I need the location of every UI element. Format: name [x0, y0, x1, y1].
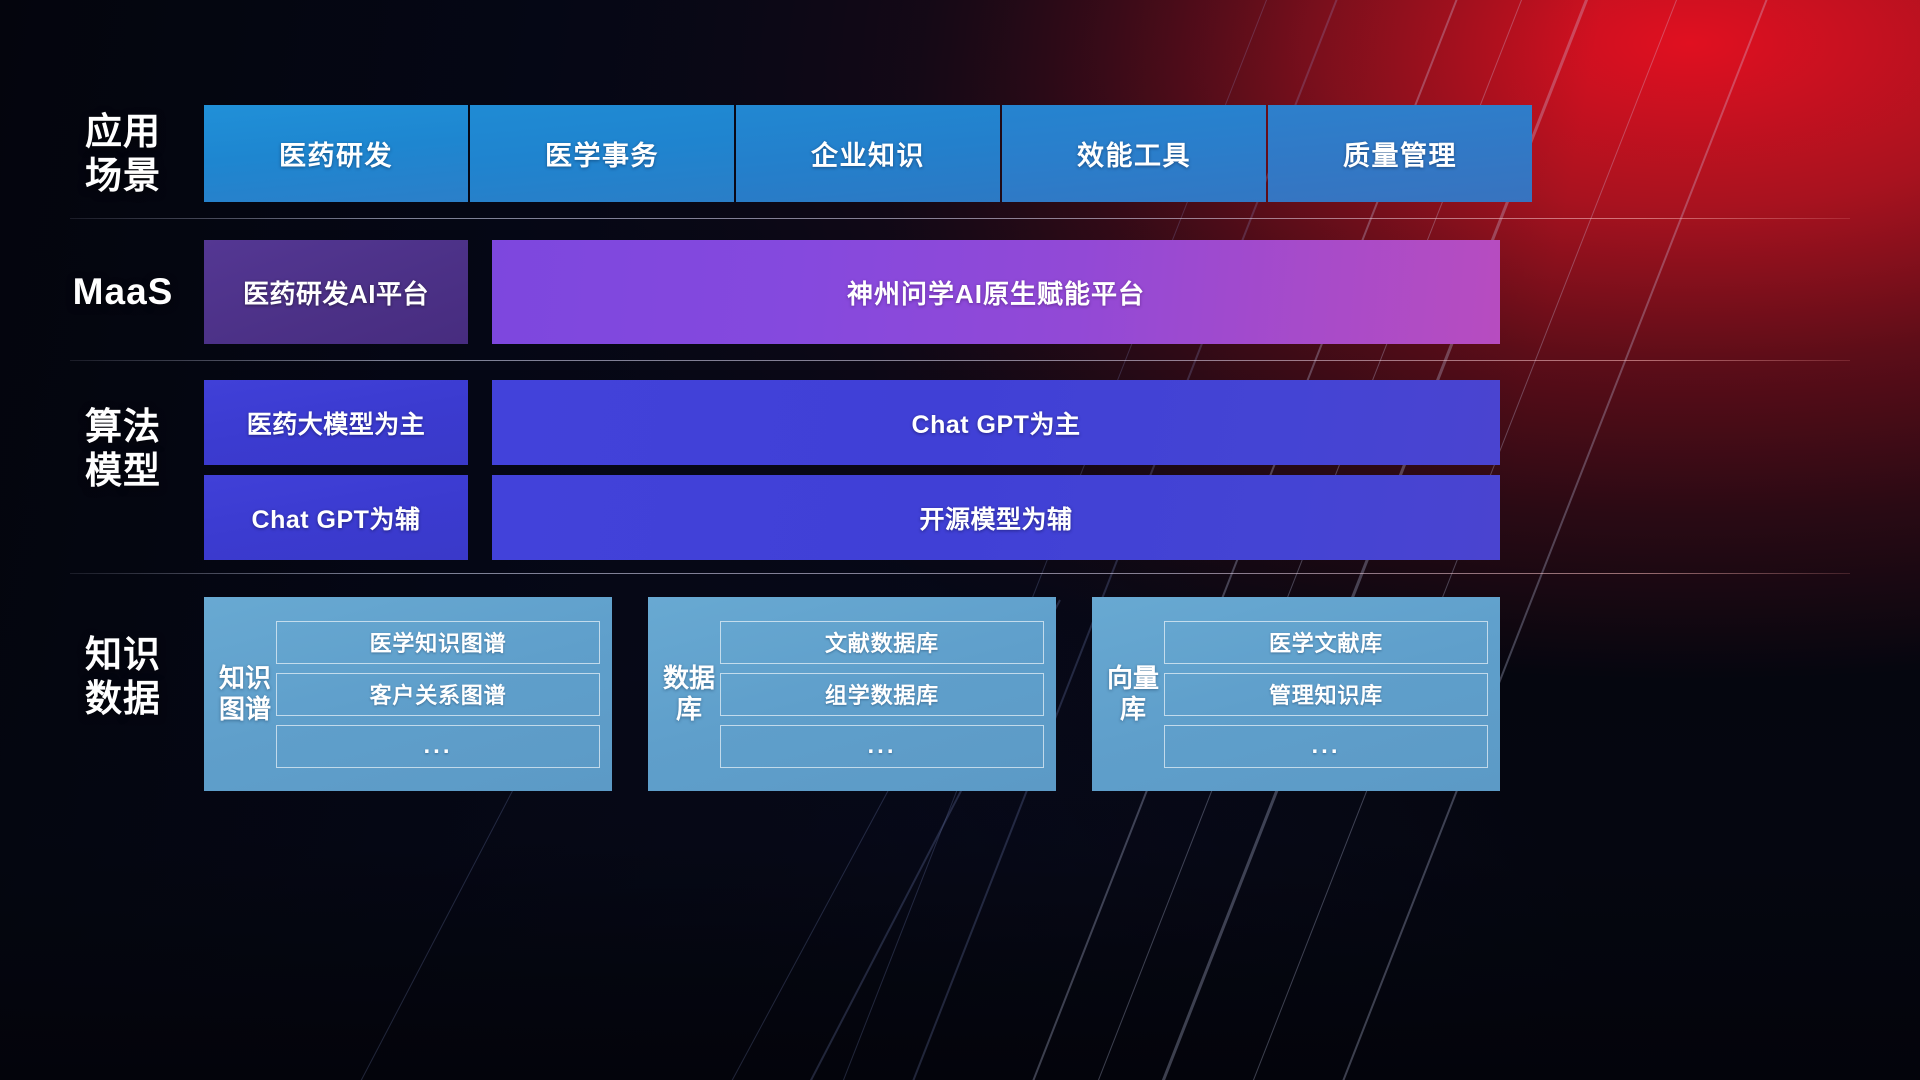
- tier-divider-2: [70, 360, 1850, 361]
- app-box-label: 效能工具: [1077, 134, 1191, 173]
- algorithm-box-label: 医药大模型为主: [247, 405, 426, 441]
- algorithm-box-label: Chat GPT为主: [912, 405, 1081, 441]
- algorithm-box-chatgpt-primary[interactable]: Chat GPT为主: [492, 380, 1500, 465]
- tier-label-knowledge-data: 知识 数据: [48, 633, 198, 721]
- algorithm-box-medicine-llm-primary[interactable]: 医药大模型为主: [204, 380, 468, 465]
- knowledge-item-more[interactable]: ...: [276, 725, 600, 768]
- app-box-label: 医药研发: [279, 134, 393, 173]
- app-box-medical-affairs[interactable]: 医学事务: [470, 105, 734, 202]
- tier-divider-3: [70, 573, 1850, 574]
- knowledge-card-items: 医学文献库 管理知识库 ...: [1164, 607, 1488, 781]
- knowledge-item[interactable]: 管理知识库: [1164, 673, 1488, 716]
- knowledge-card-title: 知识图谱: [214, 663, 276, 725]
- algorithm-box-chatgpt-secondary[interactable]: Chat GPT为辅: [204, 475, 468, 560]
- tier-label-algorithm-models: 算法 模型: [48, 405, 198, 493]
- knowledge-item[interactable]: 医学文献库: [1164, 621, 1488, 664]
- knowledge-card-title: 数据库: [658, 663, 720, 725]
- knowledge-item[interactable]: 医学知识图谱: [276, 621, 600, 664]
- tier-divider-1: [70, 218, 1850, 219]
- knowledge-card-title: 向量库: [1102, 663, 1164, 725]
- app-box-label: 企业知识: [811, 134, 925, 173]
- app-box-medicine-rd[interactable]: 医药研发: [204, 105, 468, 202]
- app-box-quality-management[interactable]: 质量管理: [1268, 105, 1532, 202]
- tier-label-maas: MaaS: [48, 270, 198, 314]
- algorithm-box-label: Chat GPT为辅: [252, 500, 421, 536]
- app-box-efficiency-tools[interactable]: 效能工具: [1002, 105, 1266, 202]
- maas-box-label: 神州问学AI原生赋能平台: [847, 274, 1145, 311]
- knowledge-item[interactable]: 组学数据库: [720, 673, 1044, 716]
- app-box-label: 医学事务: [545, 134, 659, 173]
- knowledge-card-items: 文献数据库 组学数据库 ...: [720, 607, 1044, 781]
- algorithm-box-opensource-secondary[interactable]: 开源模型为辅: [492, 475, 1500, 560]
- knowledge-card-knowledge-graph[interactable]: 知识图谱 医学知识图谱 客户关系图谱 ...: [204, 597, 612, 791]
- tier-label-application-scenarios: 应用 场景: [48, 110, 198, 198]
- app-box-enterprise-knowledge[interactable]: 企业知识: [736, 105, 1000, 202]
- maas-box-label: 医药研发AI平台: [243, 274, 429, 311]
- knowledge-card-vector-database[interactable]: 向量库 医学文献库 管理知识库 ...: [1092, 597, 1500, 791]
- algorithm-box-label: 开源模型为辅: [919, 500, 1072, 536]
- maas-box-shenzhou-wenxue-platform[interactable]: 神州问学AI原生赋能平台: [492, 240, 1500, 344]
- knowledge-item-more[interactable]: ...: [720, 725, 1044, 768]
- knowledge-item[interactable]: 客户关系图谱: [276, 673, 600, 716]
- maas-box-medicine-ai-platform[interactable]: 医药研发AI平台: [204, 240, 468, 344]
- app-box-label: 质量管理: [1343, 134, 1457, 173]
- knowledge-card-items: 医学知识图谱 客户关系图谱 ...: [276, 607, 600, 781]
- knowledge-item[interactable]: 文献数据库: [720, 621, 1044, 664]
- architecture-diagram: 应用 场景 医药研发 医学事务 企业知识 效能工具 质量管理 MaaS 医药研发…: [0, 0, 1920, 1080]
- knowledge-card-database[interactable]: 数据库 文献数据库 组学数据库 ...: [648, 597, 1056, 791]
- knowledge-item-more[interactable]: ...: [1164, 725, 1488, 768]
